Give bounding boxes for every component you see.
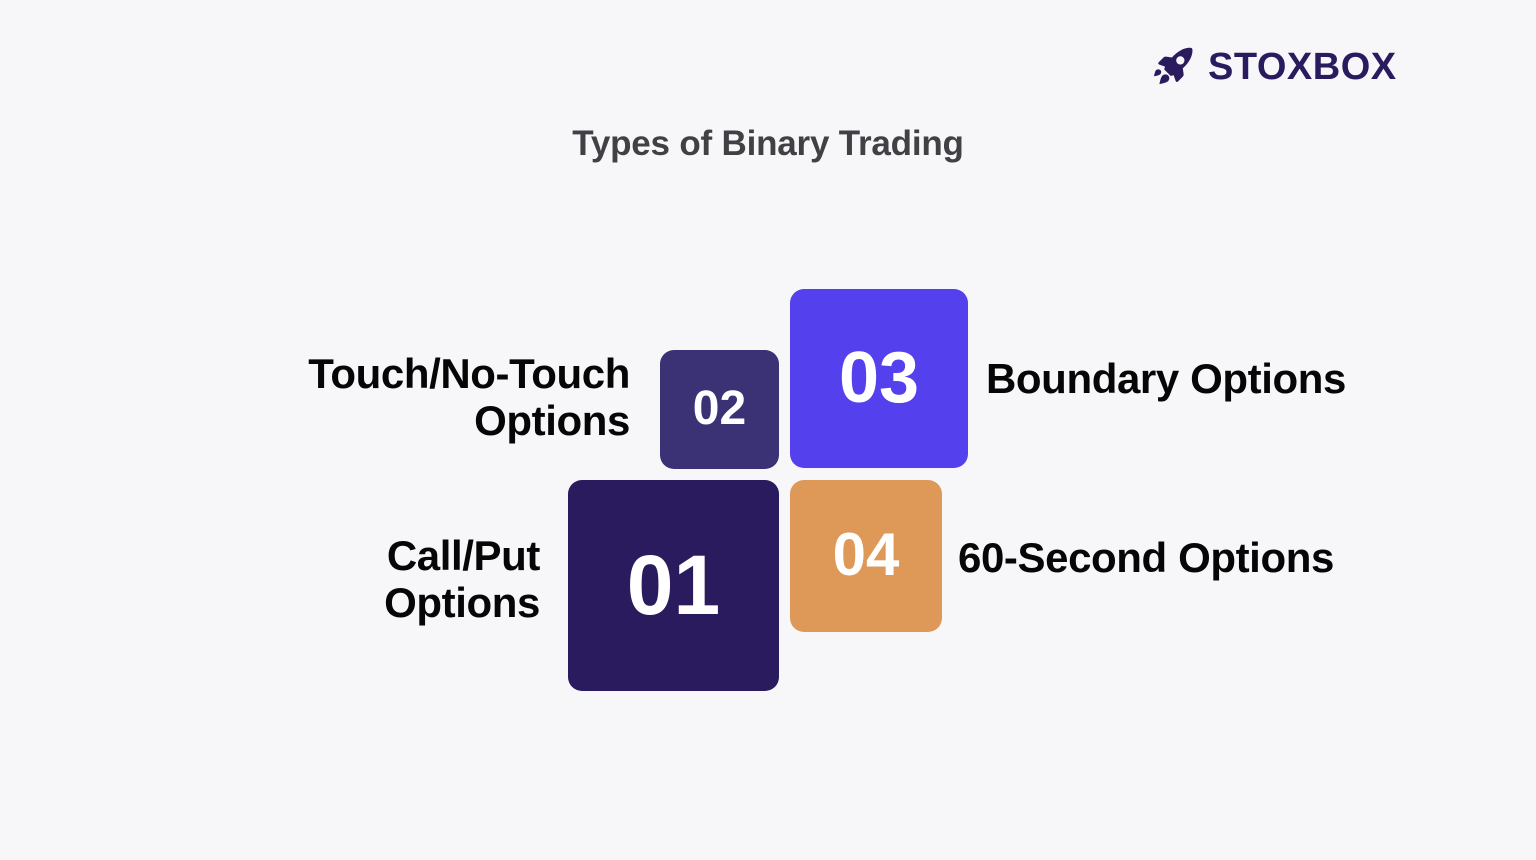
number-box-03-value: 03 (839, 342, 919, 414)
label-touch-no-touch-options: Touch/No-Touch Options (160, 350, 630, 444)
number-box-04-value: 04 (833, 525, 900, 585)
label-call-put-options: Call/Put Options (130, 532, 540, 626)
number-box-01-value: 01 (627, 543, 720, 627)
label-boundary-options: Boundary Options (986, 355, 1506, 402)
number-box-02: 02 (660, 350, 779, 469)
number-box-01: 01 (568, 480, 779, 691)
number-box-03: 03 (790, 289, 968, 468)
number-box-04: 04 (790, 480, 942, 632)
number-box-02-value: 02 (693, 385, 746, 433)
label-60-second-options: 60-Second Options (958, 534, 1498, 581)
binary-trading-types-diagram: 02 03 01 04 Touch/No-Touch Options Call/… (0, 0, 1536, 860)
